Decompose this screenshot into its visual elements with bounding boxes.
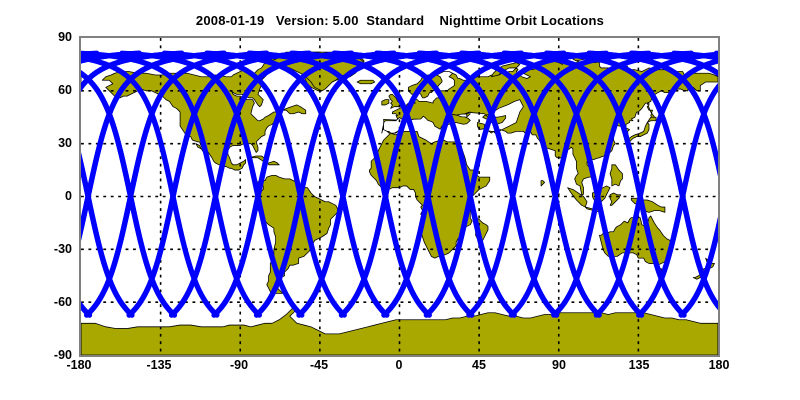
figure-canvas: 2008-01-19 Version: 5.00 Standard Nightt… bbox=[0, 0, 800, 400]
x-tick-label-neg45: -45 bbox=[284, 358, 354, 372]
x-tick-label-90: 90 bbox=[524, 358, 594, 372]
y-tick-label-0: 0 bbox=[8, 189, 72, 203]
y-tick-label-neg60: -60 bbox=[8, 295, 72, 309]
landmass-ireland bbox=[382, 100, 389, 105]
landmass-iceland bbox=[357, 80, 375, 84]
world-map bbox=[81, 38, 718, 355]
x-tick-label-45: 45 bbox=[444, 358, 514, 372]
x-tick-label-0: 0 bbox=[364, 358, 434, 372]
chart-title: 2008-01-19 Version: 5.00 Standard Nightt… bbox=[0, 13, 800, 28]
y-tick-label-60: 60 bbox=[8, 83, 72, 97]
plot-area bbox=[79, 36, 720, 357]
y-tick-label-30: 30 bbox=[8, 136, 72, 150]
x-tick-label-neg90: -90 bbox=[204, 358, 274, 372]
x-tick-label-135: 135 bbox=[604, 358, 674, 372]
x-tick-label-neg135: -135 bbox=[124, 358, 194, 372]
x-tick-label-neg180: -180 bbox=[44, 358, 114, 372]
map-container bbox=[81, 38, 718, 355]
x-tick-label-180: 180 bbox=[684, 358, 754, 372]
y-tick-label-90: 90 bbox=[8, 30, 72, 44]
y-tick-label-neg30: -30 bbox=[8, 242, 72, 256]
